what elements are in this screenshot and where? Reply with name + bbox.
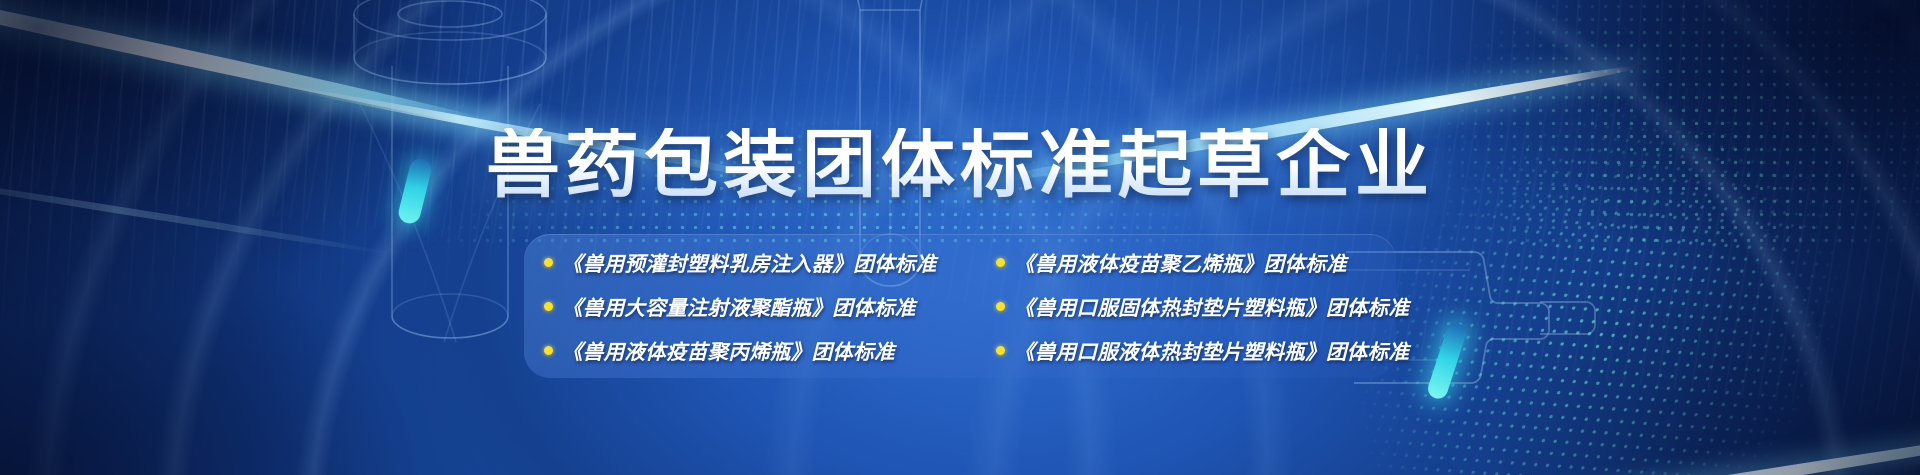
standard-item: 《兽用口服固体热封垫片塑料瓶》团体标准 xyxy=(996,291,1416,321)
standard-item: 《兽用液体疫苗聚乙烯瓶》团体标准 xyxy=(996,247,1416,277)
promo-banner: 兽药包装团体标准起草企业 《兽用预灌封塑料乳房注入器》团体标准 《兽用液体疫苗聚… xyxy=(0,0,1920,475)
standard-label: 《兽用液体疫苗聚乙烯瓶》团体标准 xyxy=(1014,247,1347,277)
halftone-dot-mesh-right xyxy=(1319,0,1920,475)
standard-label: 《兽用大容量注射液聚酯瓶》团体标准 xyxy=(562,291,916,321)
bullet-dot-icon xyxy=(996,302,1005,311)
standard-label: 《兽用口服固体热封垫片塑料瓶》团体标准 xyxy=(1014,291,1409,321)
standard-label: 《兽用液体疫苗聚丙烯瓶》团体标准 xyxy=(562,335,895,365)
light-streak-top-left xyxy=(0,0,543,142)
accent-cyan-dash-right xyxy=(1425,321,1468,401)
standard-item: 《兽用液体疫苗聚丙烯瓶》团体标准 xyxy=(544,335,996,365)
standard-label: 《兽用预灌封塑料乳房注入器》团体标准 xyxy=(562,247,936,277)
bullet-dot-icon xyxy=(544,346,553,355)
standard-label: 《兽用口服液体热封垫片塑料瓶》团体标准 xyxy=(1014,335,1409,365)
standards-panel: 《兽用预灌封塑料乳房注入器》团体标准 《兽用液体疫苗聚乙烯瓶》团体标准 《兽用大… xyxy=(524,234,1396,378)
bullet-dot-icon xyxy=(996,346,1005,355)
bullet-dot-icon xyxy=(996,258,1005,267)
standard-item: 《兽用大容量注射液聚酯瓶》团体标准 xyxy=(544,291,996,321)
standard-item: 《兽用口服液体热封垫片塑料瓶》团体标准 xyxy=(996,335,1416,365)
standards-grid: 《兽用预灌封塑料乳房注入器》团体标准 《兽用液体疫苗聚乙烯瓶》团体标准 《兽用大… xyxy=(524,234,1396,378)
standard-item: 《兽用预灌封塑料乳房注入器》团体标准 xyxy=(544,247,996,277)
bullet-dot-icon xyxy=(544,302,553,311)
bullet-dot-icon xyxy=(544,258,553,267)
light-streak-bottom-right xyxy=(1245,411,1920,475)
banner-title: 兽药包装团体标准起草企业 xyxy=(0,128,1920,202)
